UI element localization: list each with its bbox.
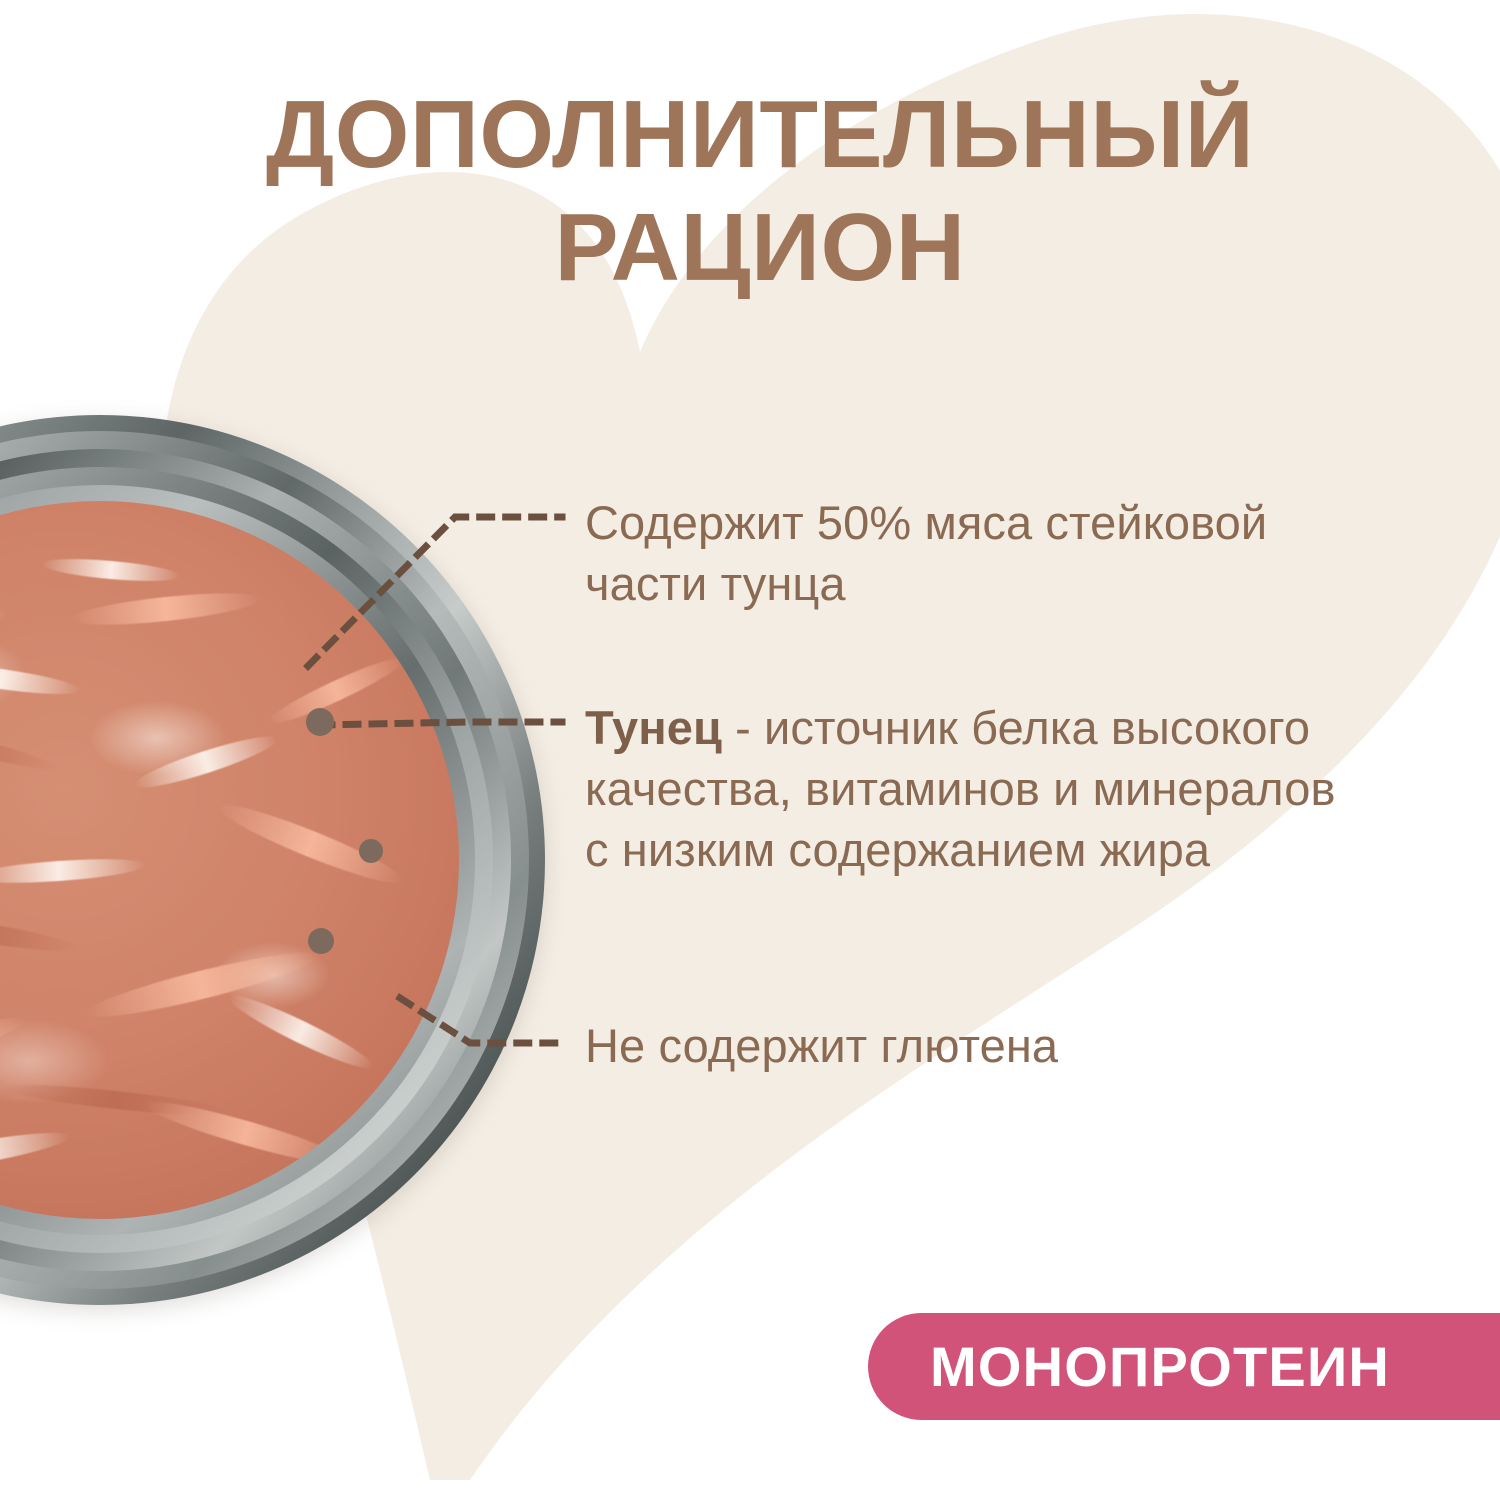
feature-3-body: Не содержит глютена xyxy=(585,1019,1058,1072)
infographic-slide: ДОПОЛНИТЕЛЬНЫЙ РАЦИОН xyxy=(0,0,1500,1500)
title-line-1: ДОПОЛНИТЕЛЬНЫЙ xyxy=(130,78,1390,191)
feature-text-gluten-free: Не содержит глютена xyxy=(585,1015,1345,1076)
page-title: ДОПОЛНИТЕЛЬНЫЙ РАЦИОН xyxy=(130,78,1390,305)
feature-text-protein-content: Содержит 50% мяса стейковой части тунца xyxy=(585,492,1345,614)
feature-text-tuna-source: Тунец - источник белка высокого качества… xyxy=(585,697,1345,880)
monoprotein-badge-label: МОНОПРОТЕИН xyxy=(930,1334,1390,1399)
feature-1-body: Содержит 50% мяса стейковой части тунца xyxy=(585,496,1267,610)
title-line-2: РАЦИОН xyxy=(130,191,1390,304)
monoprotein-badge: МОНОПРОТЕИН xyxy=(868,1313,1500,1420)
feature-2-bold-term: Тунец xyxy=(585,701,722,754)
product-can-image xyxy=(0,415,545,1305)
